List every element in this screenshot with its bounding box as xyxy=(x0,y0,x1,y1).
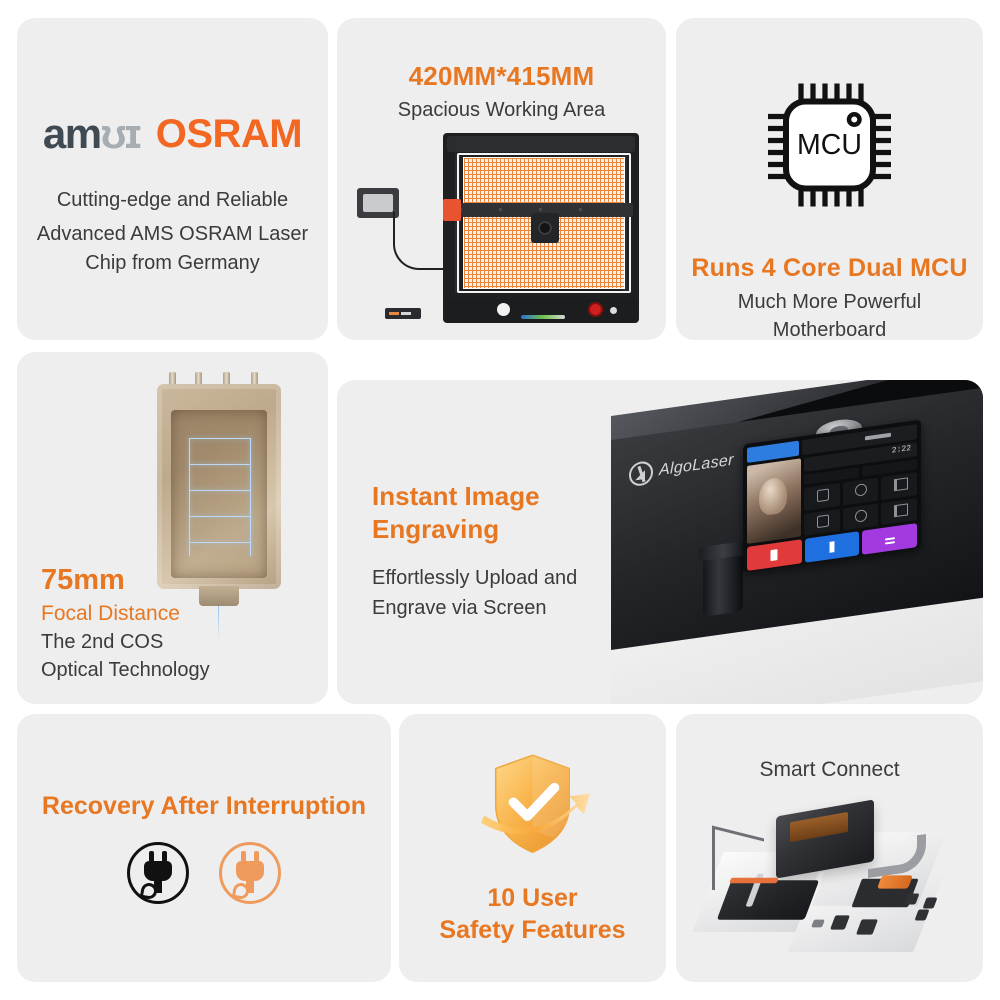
plug-icons xyxy=(17,842,391,904)
mcu-line1: Much More Powerful xyxy=(676,288,983,317)
machine-photo: AlgoLaser 2:22 xyxy=(611,380,983,704)
instant-title-line1: Instant Image xyxy=(372,480,540,513)
touchscreen[interactable]: 2:22 xyxy=(743,419,921,572)
shield-check-icon xyxy=(399,742,666,867)
instant-body-line1: Effortlessly Upload and xyxy=(372,563,577,593)
screen-icon-frame[interactable] xyxy=(881,498,917,526)
beam-paths xyxy=(189,424,251,559)
card-smart-connect: Smart Connect xyxy=(676,714,983,982)
laser-engraver-unit xyxy=(717,880,819,919)
focal-line2: Optical Technology xyxy=(41,659,210,682)
ams-logo-am: am xyxy=(43,110,101,158)
osram-logo-text: OSRAM xyxy=(156,112,302,157)
accessory-module-5 xyxy=(922,898,937,909)
accessory-module-6 xyxy=(914,910,929,921)
working-area-title: 420MM*415MM xyxy=(337,60,666,93)
roller-accessory xyxy=(877,875,913,888)
camera-stand-pole xyxy=(712,828,715,890)
ams-tagline: Cutting-edge and Reliable xyxy=(17,186,328,215)
mcu-title: Runs 4 Core Dual MCU xyxy=(676,253,983,284)
enclosure-window xyxy=(790,812,848,842)
status-led-strip xyxy=(521,315,565,319)
instant-body-line2: Engrave via Screen xyxy=(372,593,577,623)
working-area-subtitle: Spacious Working Area xyxy=(337,96,666,125)
card-ams-osram: amʊɪ OSRAM Cutting-edge and Reliable Adv… xyxy=(17,18,328,340)
safety-title-line2: Safety Features xyxy=(399,916,666,945)
ams-logo-glyph: ʊɪ xyxy=(101,110,140,158)
power-button xyxy=(497,303,510,316)
plug-icon-orange xyxy=(219,842,281,904)
mcu-chip-icon: MCU xyxy=(676,70,983,220)
safety-title-line1: 10 User xyxy=(399,884,666,913)
engraver-base xyxy=(445,299,637,323)
module-body xyxy=(157,384,281,589)
laser-ray xyxy=(218,606,219,640)
camera-stand-arm xyxy=(712,826,764,842)
focal-distance-value: 75mm xyxy=(41,564,125,597)
screen-icon-focus[interactable] xyxy=(804,508,840,536)
card-instant-image-engraving: Instant Image Engraving Effortlessly Upl… xyxy=(337,380,983,704)
focal-distance-label: Focal Distance xyxy=(41,602,180,626)
screen-icon-pause[interactable] xyxy=(843,477,879,505)
module-window xyxy=(171,410,267,578)
smart-connect-title: Smart Connect xyxy=(676,758,983,782)
laser-head xyxy=(531,213,559,243)
algolaser-logo-icon xyxy=(629,460,653,487)
card-recovery-after-interruption: Recovery After Interruption xyxy=(17,714,391,982)
controller-box xyxy=(385,308,421,319)
ams-description: Advanced AMS OSRAM Laser Chip from Germa… xyxy=(17,220,328,278)
instant-title-line2: Engraving xyxy=(372,513,540,546)
rail-end-cap xyxy=(443,199,461,221)
svg-text:MCU: MCU xyxy=(797,129,862,161)
screen-time-value: 2:22 xyxy=(892,444,911,456)
ams-logo-text: amʊɪ xyxy=(43,110,140,158)
card-mcu: MCU Runs 4 Core Dual MCU Much More Power… xyxy=(676,18,983,340)
engraver-top-bar xyxy=(447,136,635,152)
ams-osram-logo: amʊɪ OSRAM xyxy=(17,110,328,158)
screen-controls: 2:22 xyxy=(804,442,917,536)
focal-line1: The 2nd COS xyxy=(41,631,163,654)
screen-icon-speed[interactable] xyxy=(881,472,917,500)
engraver-frame xyxy=(443,133,639,323)
instant-title: Instant Image Engraving xyxy=(372,480,540,545)
engraver-accent-bar xyxy=(729,878,779,883)
card-safety-features: 10 User Safety Features xyxy=(399,714,666,982)
screen-icon-power[interactable] xyxy=(804,483,840,511)
mcu-line2: Motherboard xyxy=(676,316,983,345)
laser-engraver-illustration xyxy=(355,130,651,325)
plug-icon-black xyxy=(127,842,189,904)
recovery-title: Recovery After Interruption xyxy=(17,792,391,821)
screen-photo-preview[interactable] xyxy=(747,458,801,544)
infographic-board: amʊɪ OSRAM Cutting-edge and Reliable Adv… xyxy=(0,0,1000,1000)
card-focal-distance: 75mm Focal Distance The 2nd COS Optical … xyxy=(17,352,328,704)
smart-connect-illustration xyxy=(692,794,967,964)
screen-icon-settings[interactable] xyxy=(843,503,879,531)
card-working-area: 420MM*415MM Spacious Working Area xyxy=(337,18,666,340)
laser-module-illustration xyxy=(157,372,287,597)
power-cable xyxy=(393,212,447,270)
instant-body: Effortlessly Upload and Engrave via Scre… xyxy=(372,563,577,623)
machine-leg xyxy=(703,549,743,617)
emergency-stop-button xyxy=(588,302,603,317)
module-nozzle xyxy=(199,586,239,606)
indicator-dot xyxy=(610,307,617,314)
